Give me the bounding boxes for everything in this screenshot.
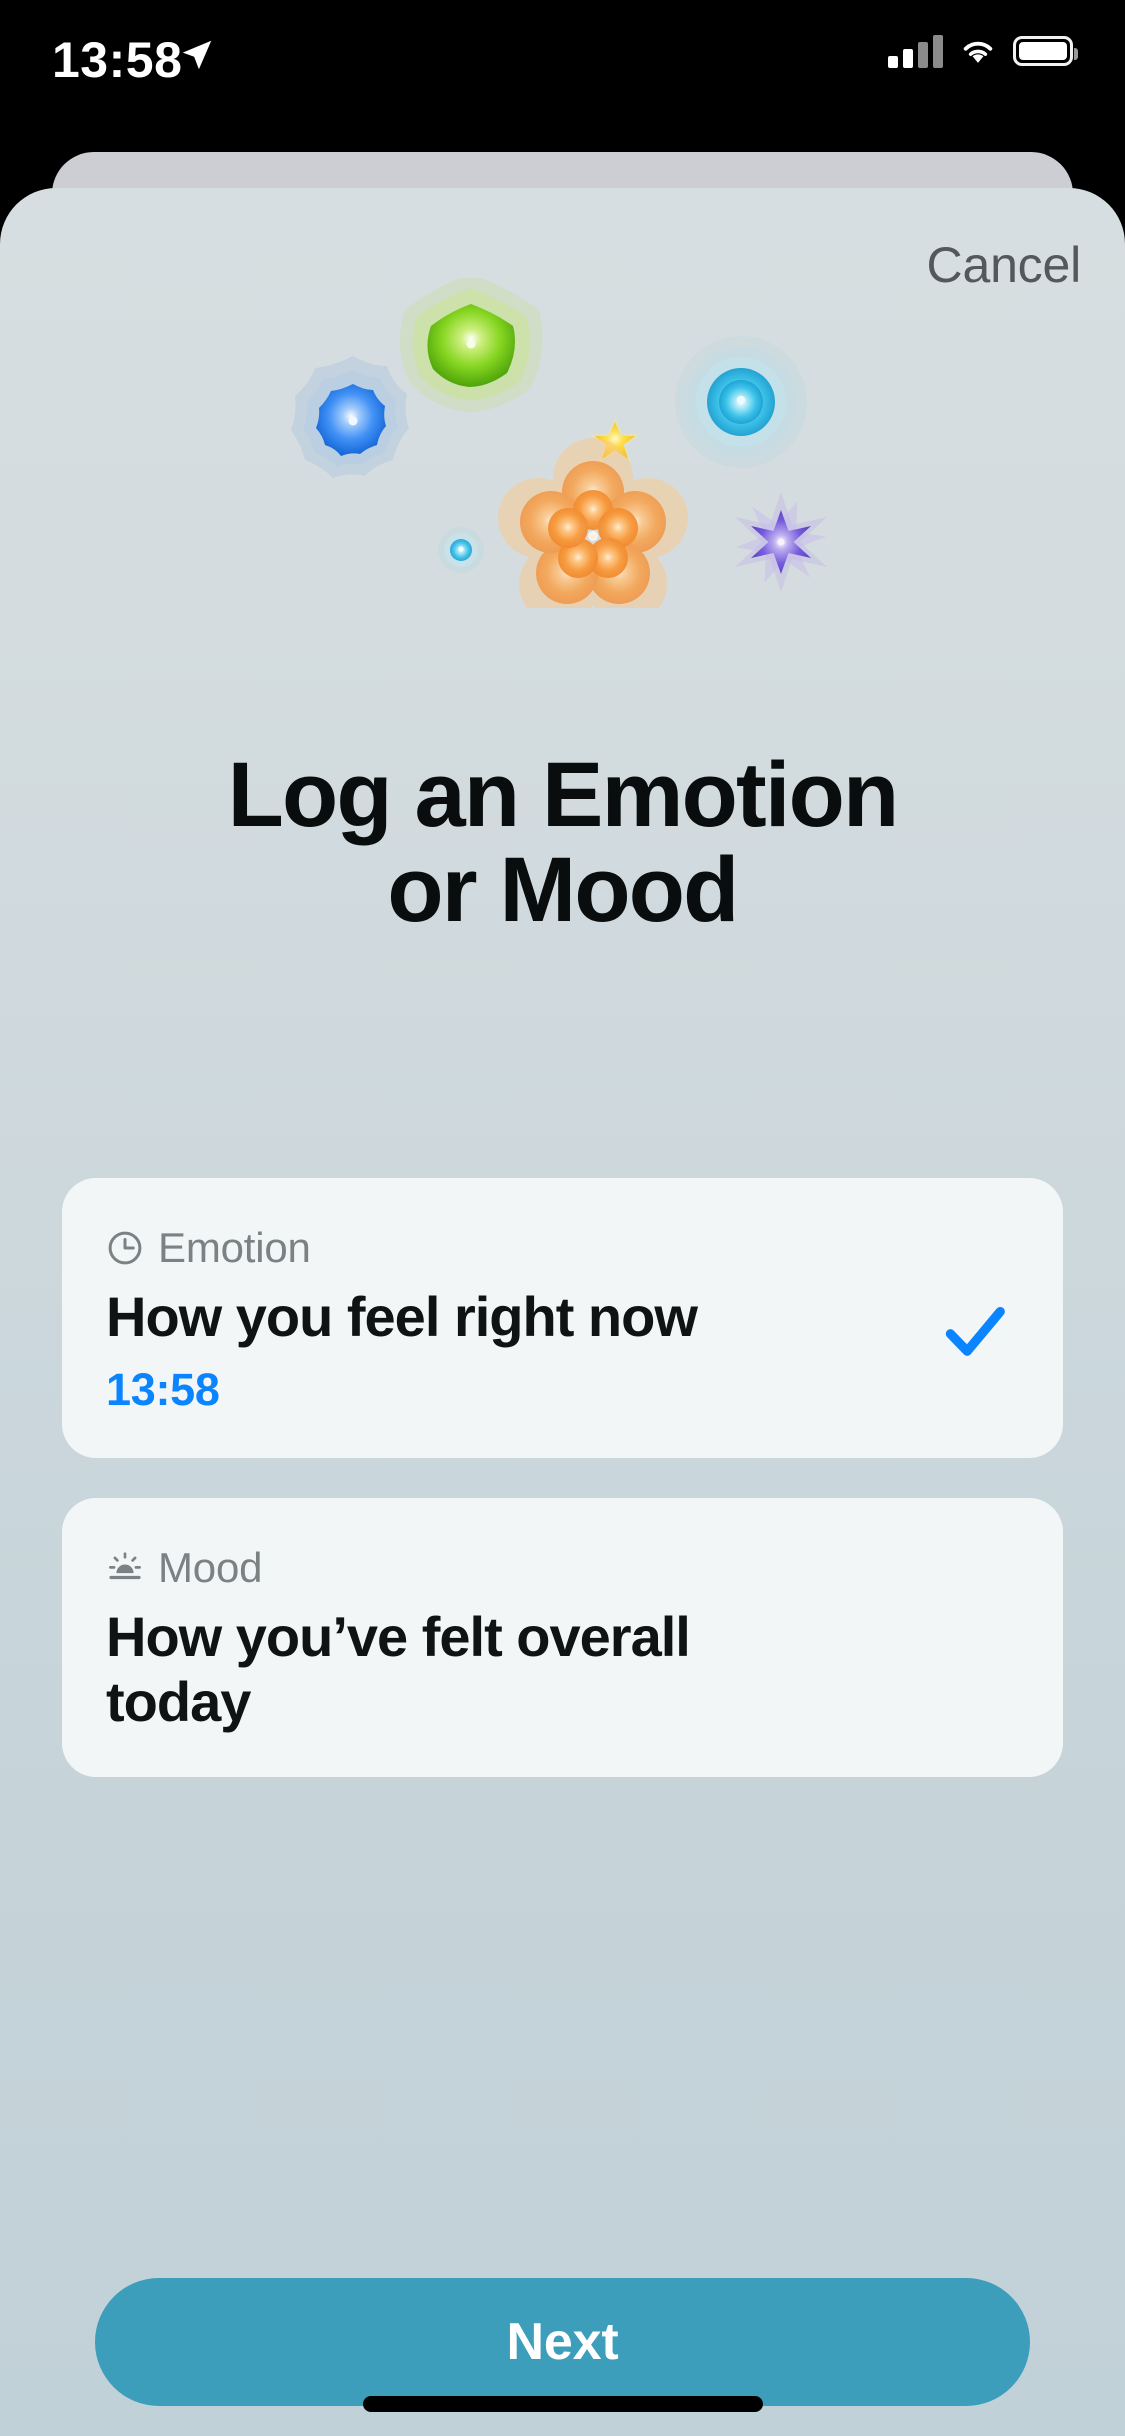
option-card-emotion[interactable]: Emotion How you feel right now 13:58	[62, 1178, 1063, 1458]
home-indicator[interactable]	[363, 2396, 763, 2412]
option-card-emotion-time: 13:58	[106, 1364, 1019, 1416]
option-card-list: Emotion How you feel right now 13:58	[62, 1178, 1063, 1817]
next-button[interactable]: Next	[95, 2278, 1030, 2406]
option-card-mood-kind: Mood	[158, 1544, 262, 1592]
option-card-emotion-header: Emotion	[106, 1224, 1019, 1272]
orange-flower	[498, 438, 688, 608]
option-card-mood-description: How you’ve felt overall today	[106, 1604, 796, 1735]
cellular-signal-icon	[888, 34, 943, 68]
status-bar-indicators	[888, 34, 1073, 68]
state-of-mind-flowers-illustration	[0, 278, 1125, 638]
sunrise-icon	[106, 1549, 144, 1587]
option-card-mood[interactable]: Mood How you’ve felt overall today	[62, 1498, 1063, 1777]
clock-icon	[106, 1229, 144, 1267]
option-card-emotion-description: How you feel right now	[106, 1284, 796, 1350]
teal-circle-flower	[675, 336, 807, 468]
checkmark-icon	[939, 1296, 1011, 1368]
log-emotion-sheet: Cancel	[0, 188, 1125, 2436]
page-title-line-2: or Mood	[70, 843, 1055, 938]
battery-icon	[1013, 36, 1073, 66]
phone-screen: 13:58 Cancel	[0, 0, 1125, 2436]
small-teal-circle	[438, 527, 484, 573]
green-pentagon-flower	[399, 278, 542, 412]
page-title-line-1: Log an Emotion	[70, 748, 1055, 843]
blue-wavy-flower	[291, 356, 409, 478]
option-card-mood-header: Mood	[106, 1544, 1019, 1592]
location-arrow-icon	[178, 36, 216, 74]
wifi-icon	[957, 35, 999, 67]
page-title: Log an Emotion or Mood	[0, 748, 1125, 938]
status-bar: 13:58	[0, 0, 1125, 132]
option-card-emotion-kind: Emotion	[158, 1224, 311, 1272]
purple-star-flower	[727, 486, 834, 598]
status-bar-time: 13:58	[52, 30, 182, 90]
